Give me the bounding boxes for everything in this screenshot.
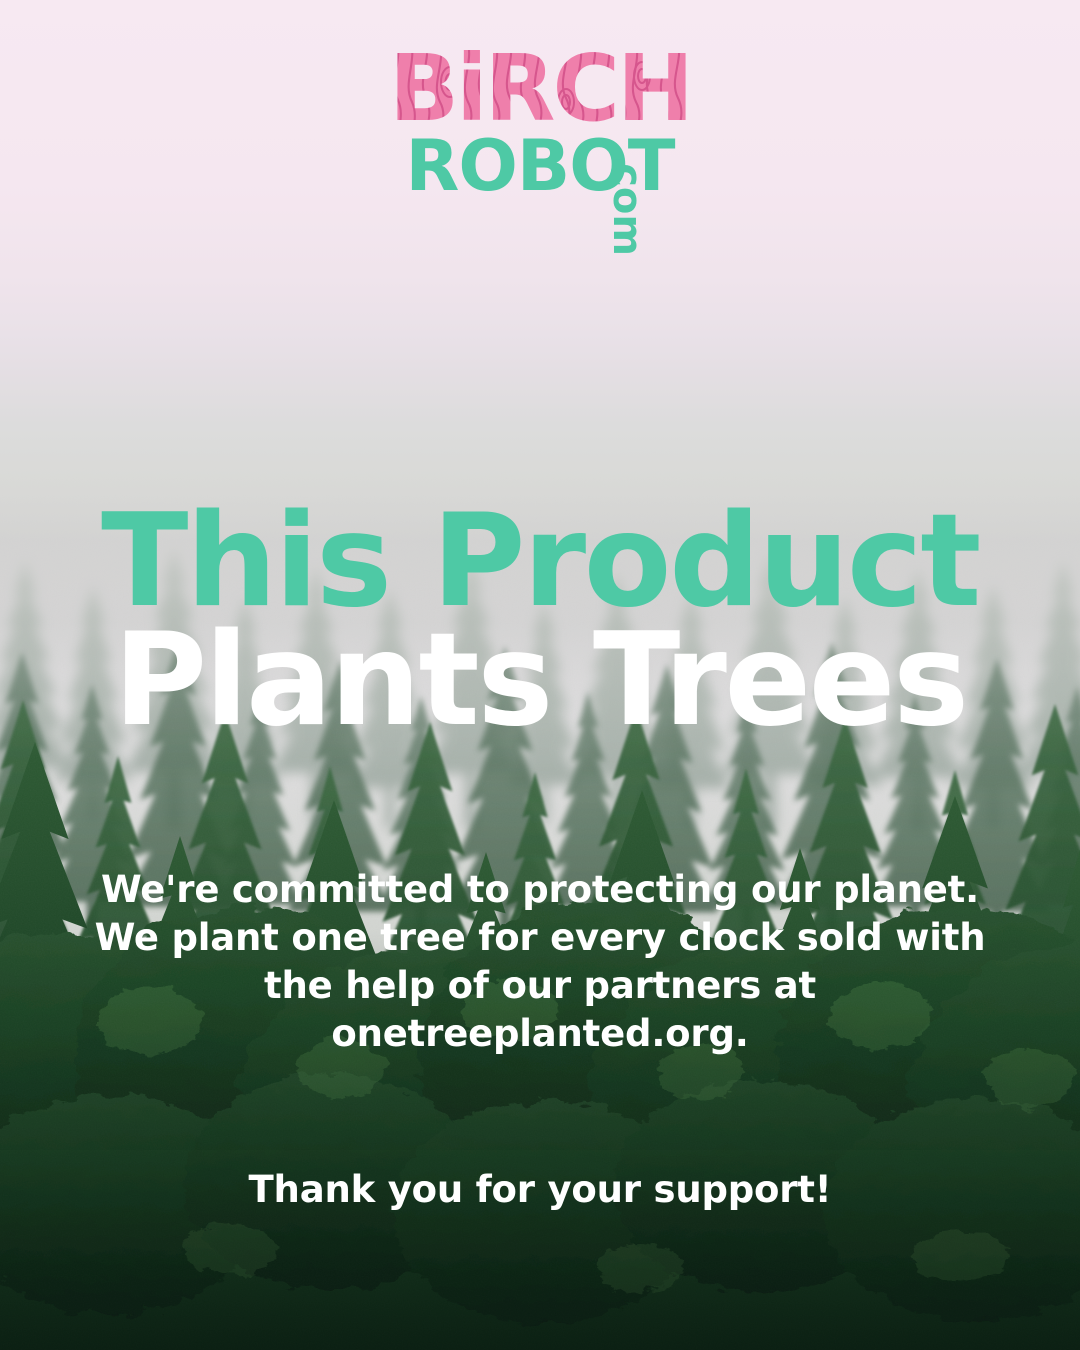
brand-logo[interactable]: BiRCH ROBOT .com	[0, 46, 1080, 204]
logo-dotcom-text: .com	[604, 148, 650, 256]
promo-poster: BiRCH ROBOT .com This Product Plants Tre…	[0, 0, 1080, 1350]
svg-text:BiRCH: BiRCH	[390, 46, 690, 138]
thank-you-message: Thank you for your support!	[0, 1168, 1080, 1211]
headline-line-1: This Product	[0, 502, 1080, 621]
headline-line-2: Plants Trees	[0, 621, 1080, 740]
logo-dotcom-wrap: .com	[598, 146, 654, 250]
mission-paragraph: We're committed to protecting our planet…	[72, 866, 1008, 1058]
page-title: This Product Plants Trees	[0, 502, 1080, 740]
logo-birch-wordmark: BiRCH	[390, 46, 690, 138]
